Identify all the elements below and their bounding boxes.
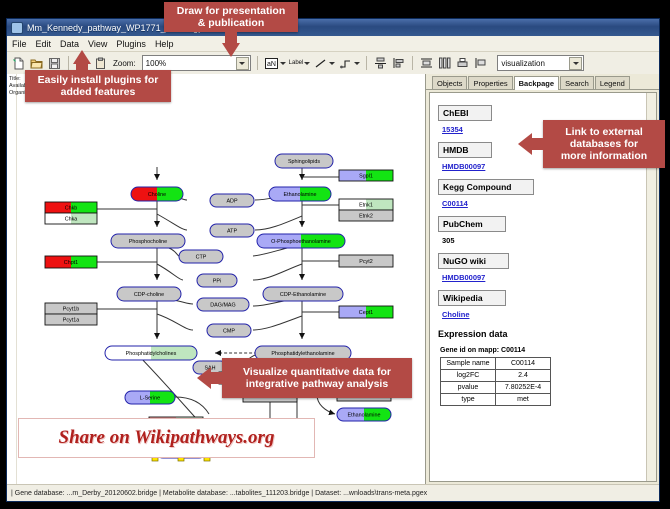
toolbar-separator-2 [257,56,258,70]
cell-value-sample-name: C00114 [496,358,551,370]
chevron-down-icon[interactable] [280,62,286,65]
svg-text:Phosphatidylcholines: Phosphatidylcholines [126,351,177,357]
link-wikipedia[interactable]: Choline [442,310,648,319]
callout-draw-line1: Draw for presentation [177,5,286,17]
callout-draw-pointer [222,43,240,57]
pathway-node-cmp[interactable]: CMP [207,324,251,337]
pathway-gene-chka[interactable]: Chka [45,213,97,224]
svg-text:Ethanolamine: Ethanolamine [284,192,317,198]
menu-item-view[interactable]: View [88,39,107,49]
section-header-hmdb: HMDB [438,142,492,158]
menu-item-help[interactable]: Help [155,39,174,49]
share-text: Share on Wikipathways.org [59,427,275,449]
table-row: log2FC 2.4 [441,370,551,382]
table-row: pvalue 7.80252E-4 [441,382,551,394]
distribute-icon[interactable] [419,56,434,71]
pathway-node-cdp-choline[interactable]: CDP-choline [117,287,181,301]
pathway-node-ctp[interactable]: CTP [179,250,223,263]
print-icon[interactable] [455,56,470,71]
pathway-node-ethanolamine-right[interactable]: Ethanolamine [337,408,391,421]
pathway-node-o-phosphoethanolamine[interactable]: O-Phosphoethanolamine [257,234,345,248]
panel-tabs: Objects Properties Backpage Search Legen… [426,74,659,90]
callout-draw-for-publication: Draw for presentation & publication [164,2,298,32]
svg-text:Etnk2: Etnk2 [359,214,373,220]
pathway-gene-cept1[interactable]: Cept1 [339,306,393,318]
screenshot-root: Mm_Kennedy_pathway_WP1771_45176.gpml Fil… [0,0,670,509]
tab-backpage[interactable]: Backpage [514,76,559,90]
callout-plugins-line2: added features [61,86,136,98]
callout-plugins-line1: Easily install plugins for [38,74,159,86]
stack-icon[interactable] [437,56,452,71]
menu-bar: File Edit Data View Plugins Help [7,36,659,52]
svg-text:CMP: CMP [223,329,235,335]
cell-label-sample-name: Sample name [441,358,496,370]
menu-item-file[interactable]: File [12,39,27,49]
pathway-gene-sgpl1[interactable]: Sgpl1 [339,170,393,181]
svg-text:Cept1: Cept1 [359,310,373,316]
pathway-gene-pcyt2[interactable]: Pcyt2 [339,255,393,267]
cell-label-type: type [441,394,496,406]
svg-text:Etnk1: Etnk1 [359,203,373,209]
svg-text:ATP: ATP [227,229,237,235]
toolbar-separator [68,56,69,70]
tab-objects[interactable]: Objects [432,76,467,89]
pathway-gene-etnk2[interactable]: Etnk2 [339,210,393,221]
cell-value-type: met [496,394,551,406]
chevron-down-icon[interactable] [304,62,310,65]
callout-visualize-line2: integrative pathway analysis [246,378,388,390]
tab-properties[interactable]: Properties [468,76,512,89]
table-row: Sample name C00114 [441,358,551,370]
section-header-wikipedia: Wikipedia [438,290,506,306]
svg-text:Choline: Choline [148,192,166,198]
section-header-nugo-wiki: NuGO wiki [438,253,509,269]
menu-item-edit[interactable]: Edit [36,39,52,49]
save-icon[interactable] [47,56,62,71]
callout-links-line2: databases for [570,138,638,150]
menu-item-plugins[interactable]: Plugins [116,39,146,49]
link-nugo-wiki[interactable]: HMDB00097 [442,273,648,282]
new-file-icon[interactable] [11,56,26,71]
pathway-node-sphingolipids[interactable]: Sphingolipids [275,154,333,168]
cell-label-pvalue: pvalue [441,382,496,394]
pathway-node-adp[interactable]: ADP [210,194,254,207]
order-icon[interactable] [473,56,488,71]
cell-value-pvalue: 7.80252E-4 [496,382,551,394]
line-icon[interactable] [313,56,328,71]
pathway-gene-pcyt1a[interactable]: Pcyt1a [45,314,97,325]
pathway-node-cdp-ethanolamine[interactable]: CDP-Ethanolamine [263,287,343,301]
link-kegg-compound[interactable]: C00114 [442,199,648,208]
callout-visualize-line1: Visualize quantitative data for [243,366,391,378]
expression-data-header: Expression data [438,329,648,339]
svg-text:Pcyt1a: Pcyt1a [63,318,79,324]
svg-text:Sphingolipids: Sphingolipids [288,159,320,165]
pathway-node-ethanolamine-top[interactable]: Ethanolamine [269,187,331,201]
section-header-pubchem: PubChem [438,216,506,232]
chevron-down-icon[interactable] [569,57,582,70]
svg-text:CDP-Ethanolamine: CDP-Ethanolamine [280,292,326,298]
title-bar: Mm_Kennedy_pathway_WP1771_45176.gpml [7,19,659,36]
callout-links-pointer [518,133,532,155]
app-icon [11,22,23,34]
pathway-gene-chpt1[interactable]: Chpt1 [45,256,97,268]
callout-share-wikipathways: Share on Wikipathways.org [18,418,315,458]
svg-text:Ethanolamine: Ethanolamine [348,413,381,419]
gene-id-line: Gene id on mapp: C00114 [440,347,648,354]
callout-plugins-pointer [73,50,91,64]
section-header-kegg-compound: Kegg Compound [438,179,534,195]
pathway-node-phosphatidylcholines[interactable]: Phosphatidylcholines [105,346,197,360]
svg-text:Phosphatidylethanolamine: Phosphatidylethanolamine [271,351,334,357]
svg-text:CDP-choline: CDP-choline [134,292,164,298]
svg-text:Chkb: Chkb [65,206,78,212]
svg-text:CTP: CTP [196,255,207,261]
zoom-label: Zoom: [113,59,136,68]
pathway-gene-pcyt1b[interactable]: Pcyt1b [45,303,97,314]
visualization-value: visualization [501,59,545,68]
value-pubchem: 305 [442,236,648,245]
tab-legend[interactable]: Legend [595,76,630,89]
datanode-tool[interactable]: aN [264,56,286,71]
svg-text:DAG/MAG: DAG/MAG [210,303,235,309]
connector-tool[interactable] [338,56,360,71]
svg-text:Phosphocholine: Phosphocholine [129,239,167,245]
cell-label-log2fc: log2FC [441,370,496,382]
callout-links-line1: Link to external [565,126,643,138]
menu-item-data[interactable]: Data [60,39,79,49]
svg-text:Pcyt1b: Pcyt1b [63,307,79,313]
expression-table: Sample name C00114 log2FC 2.4 pvalue 7.8… [440,357,551,406]
pathway-node-choline-top[interactable]: Choline [131,187,183,201]
pathway-node-l-serine-left[interactable]: L-Serine [125,391,175,404]
status-text: | Gene database: ...m_Derby_20120602.bri… [11,490,427,497]
svg-text:Chka: Chka [65,217,78,223]
cell-value-log2fc: 2.4 [496,370,551,382]
svg-text:aN: aN [267,61,276,68]
callout-links-stem [531,138,545,150]
pathway-gene-etnk1[interactable]: Etnk1 [339,199,393,210]
pathway-node-atp[interactable]: ATP [210,224,254,237]
chevron-down-icon[interactable] [354,62,360,65]
label-tool-text: Label [289,60,304,66]
callout-visualize-pointer [197,367,211,389]
line-tool[interactable] [313,56,335,71]
pathway-node-phosphocholine[interactable]: Phosphocholine [111,234,185,248]
callout-install-plugins: Easily install plugins for added feature… [25,70,171,102]
visualization-combobox[interactable]: visualization [497,55,584,71]
zoom-value: 100% [146,59,166,68]
tab-search[interactable]: Search [560,76,594,89]
status-bar: | Gene database: ...m_Derby_20120602.bri… [7,484,659,501]
open-folder-icon[interactable] [29,56,44,71]
datanode-icon[interactable]: aN [264,56,279,71]
zoom-combobox[interactable]: 100% [142,55,251,71]
toolbar-separator-4 [412,56,413,70]
svg-text:O-Phosphoethanolamine: O-Phosphoethanolamine [271,239,331,245]
table-row: type met [441,394,551,406]
pathway-node-dag-mag[interactable]: DAG/MAG [197,298,249,311]
svg-text:L-Serine: L-Serine [140,396,160,402]
svg-text:PPi: PPi [213,279,221,285]
label-tool[interactable]: Label [289,60,311,66]
section-header-chebi: ChEBI [438,105,492,121]
chevron-down-icon[interactable] [236,57,249,70]
align-icon[interactable] [373,56,388,71]
callout-links-line3: more information [561,150,647,162]
callout-external-links: Link to external databases for more info… [543,120,665,168]
svg-text:ADP: ADP [226,199,237,205]
align-left-icon[interactable] [391,56,406,71]
toolbar-separator-3 [366,56,367,70]
svg-text:Pcyt2: Pcyt2 [359,259,372,265]
paste-icon[interactable] [93,56,108,71]
chevron-down-icon[interactable] [329,62,335,65]
pathway-node-ppi[interactable]: PPi [197,274,237,287]
svg-text:Sgpl1: Sgpl1 [359,174,373,180]
connector-icon[interactable] [338,56,353,71]
pathway-gene-chkb[interactable]: Chkb [45,202,97,213]
callout-visualize-stem [210,372,224,384]
callout-visualize-data: Visualize quantitative data for integrat… [222,358,412,398]
svg-text:Chpt1: Chpt1 [64,260,78,266]
callout-draw-line2: & publication [198,17,265,29]
